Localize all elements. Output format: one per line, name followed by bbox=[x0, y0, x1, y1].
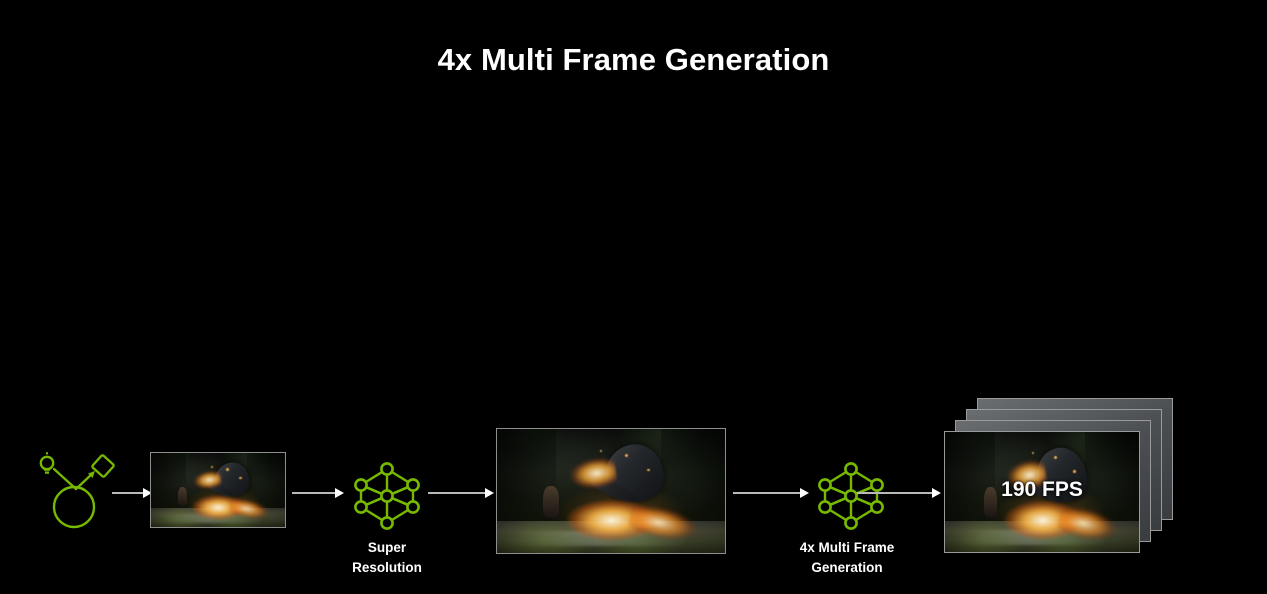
arrow-super-resolution-to-upscaled bbox=[428, 488, 494, 498]
neural-network-icon-super-resolution bbox=[348, 459, 426, 533]
page-title: 4x Multi Frame Generation bbox=[0, 42, 1267, 78]
slide-canvas: 4x Multi Frame Generation bbox=[0, 0, 1267, 594]
arrow-shaft bbox=[112, 492, 144, 494]
game-scene bbox=[151, 453, 285, 527]
upscaled-game-frame bbox=[496, 428, 726, 554]
arrow-rt-to-input bbox=[112, 488, 152, 498]
arrow-head bbox=[335, 488, 344, 498]
arrow-shaft bbox=[733, 492, 801, 494]
input-game-frame bbox=[150, 452, 286, 528]
arrow-head bbox=[485, 488, 494, 498]
game-scene bbox=[497, 429, 725, 553]
output-game-frame: 190 FPS bbox=[944, 431, 1140, 553]
arrow-shaft bbox=[428, 492, 486, 494]
ray-tracing-icon bbox=[33, 452, 121, 530]
output-frame-stack: 190 FPS bbox=[944, 398, 1184, 558]
arrow-shaft bbox=[857, 492, 933, 494]
arrow-upscaled-to-frame-generation bbox=[733, 488, 809, 498]
arrow-frame-generation-to-output bbox=[857, 488, 941, 498]
fps-overlay-label: 190 FPS bbox=[945, 478, 1139, 502]
frame-generation-label: 4x Multi Frame Generation bbox=[759, 538, 935, 577]
arrow-input-to-super-resolution bbox=[292, 488, 344, 498]
scene-vignette bbox=[151, 453, 285, 527]
arrow-shaft bbox=[292, 492, 336, 494]
arrow-head bbox=[800, 488, 809, 498]
scene-vignette bbox=[497, 429, 725, 553]
arrow-head bbox=[932, 488, 941, 498]
super-resolution-label: Super Resolution bbox=[317, 538, 457, 577]
